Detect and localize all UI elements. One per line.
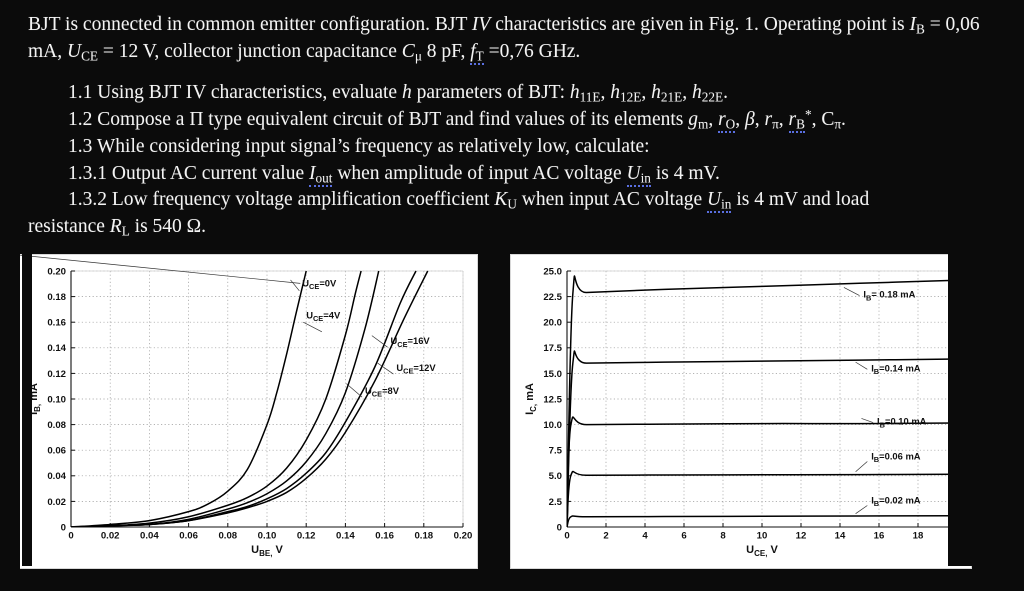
scan-artifact-bar-right-outer bbox=[972, 252, 1024, 574]
svg-text:0.16: 0.16 bbox=[375, 531, 394, 542]
item-1-3-2-text-b: when input AC voltage bbox=[517, 189, 707, 210]
svg-text:0.02: 0.02 bbox=[47, 497, 66, 508]
intro-iv-italic: IV bbox=[472, 14, 490, 35]
uin-symbol-group-2: Uin bbox=[707, 189, 731, 213]
intro-text-a: BJT is connected in common emitter confi… bbox=[28, 14, 472, 35]
ku-symbol-group: KU bbox=[494, 189, 517, 210]
svg-text:0: 0 bbox=[61, 522, 66, 533]
svg-text:10: 10 bbox=[757, 531, 768, 542]
h-parameter-h22e: h22E. bbox=[692, 82, 728, 103]
ft-value: =0,76 GHz. bbox=[484, 41, 581, 62]
element-rb-star: rB*, bbox=[789, 109, 817, 130]
svg-text:0.08: 0.08 bbox=[47, 420, 66, 431]
item-1-3-1: 1.3.1 Output AC current value Iout when … bbox=[68, 161, 996, 188]
input-characteristics-svg: 00.020.040.060.080.100.120.140.160.180.2… bbox=[19, 255, 477, 568]
rl-symbol-group: RL bbox=[110, 216, 130, 237]
item-1-3: 1.3 While considering input signal’s fre… bbox=[68, 134, 996, 161]
ft-subscript: T bbox=[476, 48, 484, 63]
svg-text:8: 8 bbox=[720, 531, 726, 542]
uce-value: = 12 V, collector junction capacitance bbox=[98, 41, 402, 62]
ku-subscript: U bbox=[507, 197, 517, 212]
item-1-3-1-text-c: is 4 mV. bbox=[651, 163, 720, 184]
uce-subscript: CE bbox=[81, 48, 98, 63]
svg-text:0.04: 0.04 bbox=[47, 471, 66, 482]
operating-point-ib: IB bbox=[909, 14, 924, 35]
scan-artifact-bar-bottom bbox=[0, 570, 1024, 591]
rl-subscript: L bbox=[122, 224, 130, 239]
rl-symbol: R bbox=[110, 216, 122, 237]
item-1-1: 1.1 Using BJT IV characteristics, evalua… bbox=[68, 80, 996, 107]
output-characteristics-svg: 02.55.07.510.012.515.017.520.022.525.002… bbox=[511, 255, 971, 568]
svg-text:0.08: 0.08 bbox=[218, 531, 237, 542]
svg-text:0.12: 0.12 bbox=[47, 369, 66, 380]
chart-output-characteristics: 02.55.07.510.012.515.017.520.022.525.002… bbox=[510, 254, 972, 569]
intro-text-b: characteristics are given in Fig. 1. Ope… bbox=[490, 14, 904, 35]
element-gm: gm, bbox=[688, 109, 713, 130]
svg-text:0.06: 0.06 bbox=[179, 531, 198, 542]
item-1-3-2-text-d: resistance bbox=[28, 216, 110, 237]
ku-symbol: K bbox=[494, 189, 507, 210]
item-1-3-2-text-a: Low frequency voltage amplification coef… bbox=[112, 189, 494, 210]
item-1-2-text-a: Compose a Π type equivalent circuit of B… bbox=[97, 109, 688, 130]
item-1-3-2-text-c: is 4 mV and load bbox=[731, 189, 869, 210]
svg-text:0.16: 0.16 bbox=[47, 318, 66, 329]
svg-text:0.14: 0.14 bbox=[336, 531, 355, 542]
problem-statement: BJT is connected in common emitter confi… bbox=[0, 0, 1024, 241]
svg-text:0.10: 0.10 bbox=[47, 394, 66, 405]
chart-input-characteristics: 00.020.040.060.080.100.120.140.160.180.2… bbox=[18, 254, 478, 569]
item-1-3-1-number: 1.3.1 bbox=[68, 163, 112, 184]
svg-text:16: 16 bbox=[874, 531, 885, 542]
scan-artifact-bar-left-outer bbox=[0, 252, 20, 574]
cmu-symbol-group: Cμ bbox=[402, 41, 422, 62]
svg-text:4: 4 bbox=[642, 531, 648, 542]
uin-symbol-group-1: Uin bbox=[627, 163, 651, 187]
svg-text:0.14: 0.14 bbox=[47, 343, 66, 354]
uin-subscript-2: in bbox=[721, 197, 731, 212]
intro-paragraph: BJT is connected in common emitter confi… bbox=[28, 12, 996, 66]
svg-text:0.18: 0.18 bbox=[414, 531, 433, 542]
item-1-2: 1.2 Compose a Π type equivalent circuit … bbox=[68, 107, 996, 134]
svg-text:2.5: 2.5 bbox=[549, 497, 563, 508]
svg-text:5.0: 5.0 bbox=[549, 471, 562, 482]
cmu-symbol: C bbox=[402, 41, 415, 62]
svg-text:0.20: 0.20 bbox=[47, 266, 66, 277]
h-italic: h bbox=[402, 82, 412, 103]
item-1-3-1-text-b: when amplitude of input AC voltage bbox=[332, 163, 626, 184]
element-rpi: rπ, bbox=[764, 109, 783, 130]
svg-text:0.06: 0.06 bbox=[47, 446, 66, 457]
svg-text:15.0: 15.0 bbox=[543, 369, 562, 380]
svg-text:6: 6 bbox=[681, 531, 686, 542]
svg-text:18: 18 bbox=[913, 531, 924, 542]
svg-text:0: 0 bbox=[564, 531, 569, 542]
scan-artifact-bar-middle-b bbox=[494, 252, 508, 574]
iout-symbol-group: Iout bbox=[309, 163, 332, 187]
screenshot-root: BJT is connected in common emitter confi… bbox=[0, 0, 1024, 591]
element-ro: rO bbox=[718, 109, 735, 133]
svg-text:0.20: 0.20 bbox=[454, 531, 473, 542]
svg-text:0.18: 0.18 bbox=[47, 292, 66, 303]
svg-text:17.5: 17.5 bbox=[543, 343, 562, 354]
uin-symbol-2: U bbox=[707, 189, 721, 210]
iout-subscript: out bbox=[316, 170, 333, 185]
item-1-1-number: 1.1 bbox=[68, 82, 97, 103]
scan-artifact-bar-left-inner bbox=[22, 254, 32, 566]
svg-text:12.5: 12.5 bbox=[543, 394, 562, 405]
item-1-1-text-b: parameters of BJT: bbox=[412, 82, 570, 103]
item-1-3-number: 1.3 bbox=[68, 136, 97, 157]
svg-text:20.0: 20.0 bbox=[543, 318, 562, 329]
svg-text:25.0: 25.0 bbox=[543, 266, 562, 277]
element-cpi: Cπ. bbox=[821, 109, 846, 130]
svg-text:0.04: 0.04 bbox=[140, 531, 159, 542]
item-1-3-2: 1.3.2 Low frequency voltage amplificatio… bbox=[68, 187, 996, 214]
item-1-3-text: While considering input signal’s frequen… bbox=[97, 136, 650, 157]
svg-text:0: 0 bbox=[68, 531, 73, 542]
figure-1-iv-characteristics: 00.020.040.060.080.100.120.140.160.180.2… bbox=[0, 252, 1024, 574]
uce-symbol: U bbox=[67, 41, 81, 62]
uin-symbol-1: U bbox=[627, 163, 641, 184]
ft-symbol-group: fT bbox=[470, 41, 484, 65]
svg-text:0.02: 0.02 bbox=[101, 531, 120, 542]
svg-text:0.12: 0.12 bbox=[297, 531, 316, 542]
h-parameter-h12e: h12E, bbox=[610, 82, 646, 103]
cmu-value: 8 pF, bbox=[422, 41, 470, 62]
svg-text:10.0: 10.0 bbox=[543, 420, 562, 431]
svg-text:22.5: 22.5 bbox=[543, 292, 562, 303]
svg-text:14: 14 bbox=[835, 531, 846, 542]
svg-text:0: 0 bbox=[557, 522, 562, 533]
item-1-3-1-text-a: Output AC current value bbox=[112, 163, 309, 184]
element-beta: β, bbox=[745, 109, 760, 130]
svg-text:12: 12 bbox=[796, 531, 807, 542]
cmu-subscript: μ bbox=[415, 48, 422, 63]
item-1-3-2-continued: resistance RL is 540 Ω. bbox=[28, 214, 996, 241]
svg-text:2: 2 bbox=[603, 531, 608, 542]
item-1-3-2-text-e: is 540 Ω. bbox=[130, 216, 206, 237]
operating-point-uce: UCE bbox=[67, 41, 98, 62]
uin-subscript-1: in bbox=[641, 170, 651, 185]
item-1-3-2-number: 1.3.2 bbox=[68, 189, 112, 210]
item-1-1-text-a: Using BJT IV characteristics, evaluate bbox=[97, 82, 402, 103]
scan-artifact-bar-middle-a bbox=[478, 252, 492, 574]
h-parameter-h21e: h21E, bbox=[651, 82, 687, 103]
svg-text:7.5: 7.5 bbox=[549, 446, 563, 457]
svg-text:0.10: 0.10 bbox=[258, 531, 277, 542]
h-parameter-h11e: h11E, bbox=[570, 82, 605, 103]
scan-artifact-bar-right-inner bbox=[948, 254, 972, 566]
item-1-2-number: 1.2 bbox=[68, 109, 97, 130]
ib-subscript: B bbox=[916, 21, 925, 36]
